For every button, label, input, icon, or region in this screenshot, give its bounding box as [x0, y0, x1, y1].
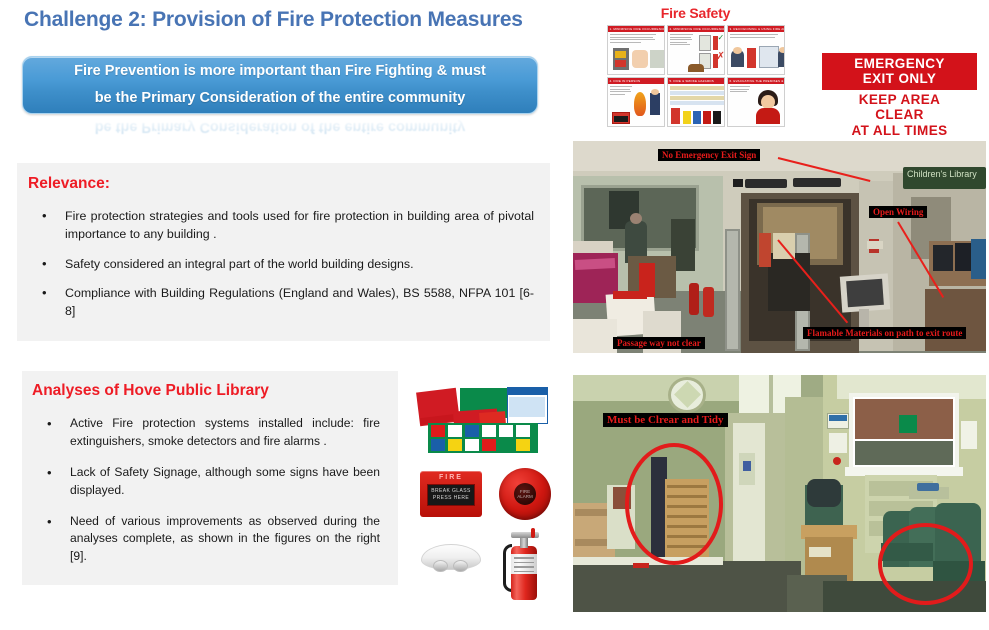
emergency-exit-line-1: EMERGENCY [824, 56, 975, 71]
childrens-library-sign-text: Children's Library [907, 169, 983, 179]
library-reading-room-photo: Must be Clrear and Tidy [573, 375, 986, 612]
analyses-heading: Analyses of Hove Public Library [22, 371, 398, 400]
fire-safety-signage-montage-image [418, 386, 548, 454]
list-item: Compliance with Building Regulations (En… [39, 284, 534, 321]
poster-panel-title: 6. EVACUATING THE PREMISES & SERVICES [728, 79, 785, 83]
emergency-exit-banner: EMERGENCY EXIT ONLY [822, 53, 977, 90]
poster-panel: 1. MINIMISING FIRE OCCURRENCE: RISK CONT… [607, 25, 665, 75]
callout-reflection: be the Primary Consideration of the enti… [32, 116, 528, 138]
emergency-exit-line-4: CLEAR [822, 107, 977, 122]
smoke-detector-image [417, 536, 485, 584]
call-point-text-1: BREAK GLASS [431, 488, 470, 496]
call-point-label: FIRE [420, 474, 482, 481]
fire-safety-poster-image: Fire Safety 1. MINIMISING FIRE OCCURRENC… [603, 3, 788, 131]
list-item: Lack of Safety Signage, although some si… [44, 464, 380, 500]
library-entrance-photo: Children's Library No Emergency Exit Sig… [573, 141, 986, 353]
relevance-bullet-list: Fire protection strategies and tools use… [17, 193, 550, 321]
highlight-ring-chairs [878, 523, 973, 605]
callout-reflection-text: be the Primary Consideration of the enti… [32, 116, 528, 138]
poster-panel-title: 2. MINIMISING FIRE OCCURRENCE: DETECTION [668, 27, 725, 31]
fire-safety-poster-grid: 1. MINIMISING FIRE OCCURRENCE: RISK CONT… [607, 25, 785, 127]
fire-equipment-image-column: FIRE BREAK GLASS PRESS HERE FIRE ALARM [415, 386, 565, 608]
fire-safety-poster-title: Fire Safety [603, 3, 788, 21]
poster-panel-title: 3. RECOGNISING & USING FIRE APPLIANCES [728, 27, 785, 31]
poster-panel-title: 1. MINIMISING FIRE OCCURRENCE: RISK CONT… [608, 27, 665, 31]
callout-line-2: be the Primary Consideration of the enti… [95, 85, 466, 112]
emergency-exit-subtext: KEEP AREA CLEAR AT ALL TIMES [822, 90, 977, 138]
fire-alarm-call-point-image: FIRE BREAK GLASS PRESS HERE [420, 471, 482, 517]
highlight-ring-cabinet [625, 443, 723, 565]
relevance-panel: Relevance: Fire protection strategies an… [17, 163, 550, 341]
list-item: Fire protection strategies and tools use… [39, 207, 534, 244]
list-item: Need of various improvements as observed… [44, 513, 380, 567]
callout-banner: Fire Prevention is more important than F… [22, 56, 538, 136]
annotation-flamable-materials: Flamable Materials on path to exit route [803, 327, 966, 339]
poster-panel: 4. FIRE IN PERSON [607, 77, 665, 127]
fire-extinguisher-image [495, 526, 553, 606]
call-point-window: BREAK GLASS PRESS HERE [427, 484, 475, 506]
fire-alarm-bell-image: FIRE ALARM [499, 468, 551, 520]
relevance-heading: Relevance: [17, 163, 550, 193]
poster-panel: 2. MINIMISING FIRE OCCURRENCE: DETECTION… [667, 25, 725, 75]
annotation-passage-way-not-clear: Passage way not clear [613, 337, 705, 349]
analyses-panel: Analyses of Hove Public Library Active F… [22, 371, 398, 585]
poster-panel-title: 4. FIRE IN PERSON [608, 79, 641, 83]
list-item: Active Fire protection systems installed… [44, 415, 380, 451]
callout-box: Fire Prevention is more important than F… [22, 56, 538, 114]
annotation-must-be-clear-and-tidy: Must be Clrear and Tidy [603, 413, 728, 427]
annotation-no-emergency-exit-sign: No Emergency Exit Sign [658, 149, 760, 161]
poster-panel: 6. EVACUATING THE PREMISES & SERVICES [727, 77, 785, 127]
annotation-open-wiring: Open Wiring [869, 206, 927, 218]
bell-hub-text: FIRE ALARM [514, 489, 536, 500]
emergency-exit-line-3: KEEP AREA [822, 92, 977, 107]
poster-panel: 3. RECOGNISING & USING FIRE APPLIANCES [727, 25, 785, 75]
list-item: Safety considered an integral part of th… [39, 255, 534, 273]
emergency-exit-line-2: EXIT ONLY [824, 71, 975, 86]
emergency-exit-sign-image: EMERGENCY EXIT ONLY KEEP AREA CLEAR AT A… [822, 53, 977, 138]
callout-line-1: Fire Prevention is more important than F… [74, 58, 486, 85]
call-point-text-2: PRESS HERE [433, 495, 469, 503]
poster-panel: 5. FIRE & SMOKE HAZARDS [667, 77, 725, 127]
poster-panel-title: 5. FIRE & SMOKE HAZARDS [668, 79, 714, 83]
emergency-exit-line-5: AT ALL TIMES [822, 123, 977, 138]
analyses-bullet-list: Active Fire protection systems installed… [22, 400, 398, 566]
page-title: Challenge 2: Provision of Fire Protectio… [24, 8, 584, 32]
